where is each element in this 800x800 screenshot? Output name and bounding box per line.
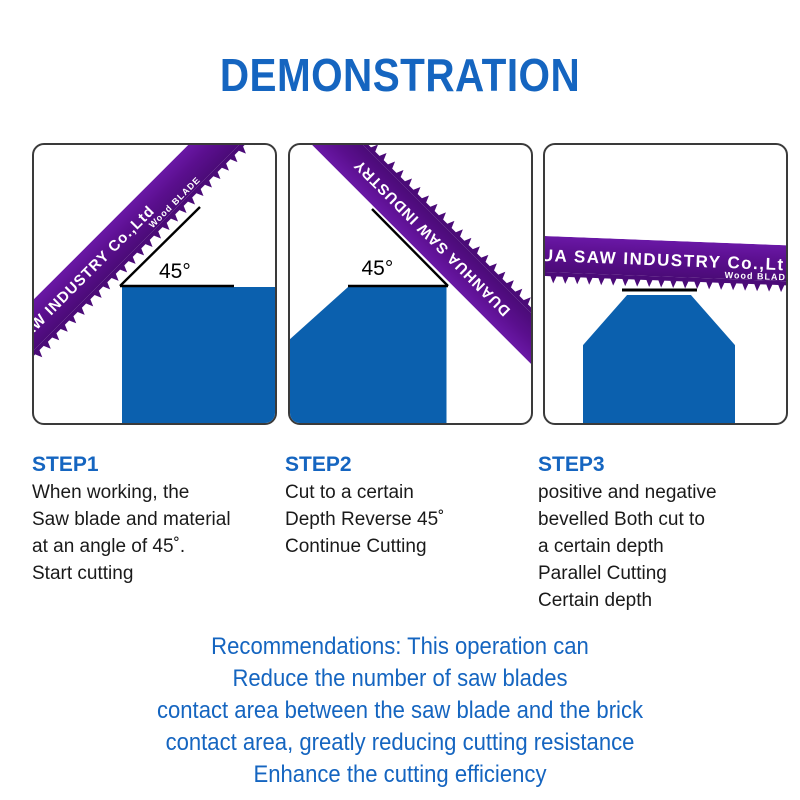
workpiece-block-step3	[583, 295, 735, 423]
step-body-1: When working, the Saw blade and material…	[32, 480, 282, 588]
panel-step3: NHUA SAW INDUSTRY Co.,Lt Wood BLAD	[543, 143, 788, 425]
panel-step1: SAW INDUSTRY Co.,Ltd Wood BLADE HCS 厚1.2…	[32, 143, 277, 425]
recommendation-line-5: Enhance the cutting efficiency	[32, 759, 768, 791]
workpiece-block-step1	[122, 287, 275, 423]
page-title: DEMONSTRATION	[48, 52, 752, 98]
recommendation-line-4: contact area, greatly reducing cutting r…	[32, 727, 768, 759]
panel-step2-canvas: DUANHUA SAW INDUSTRY Wood 45°	[290, 145, 531, 423]
panel-step2: DUANHUA SAW INDUSTRY Wood 45°	[288, 143, 533, 425]
recommendation-line-1: Recommendations: This operation can	[32, 631, 768, 663]
step-title-2: STEP2	[285, 452, 535, 478]
panel-step3-canvas: NHUA SAW INDUSTRY Co.,Lt Wood BLAD	[545, 145, 786, 423]
step-item-1: STEP1 When working, the Saw blade and ma…	[32, 452, 282, 615]
angle-label-step1: 45°	[159, 260, 191, 284]
step-body-2: Cut to a certain Depth Reverse 45˚ Conti…	[285, 480, 535, 561]
step-captions: STEP1 When working, the Saw blade and ma…	[32, 452, 788, 615]
step-item-3: STEP3 positive and negative bevelled Bot…	[538, 452, 788, 615]
saw-blade-step3: NHUA SAW INDUSTRY Co.,Lt Wood BLAD	[545, 235, 786, 296]
step-title-3: STEP3	[538, 452, 788, 478]
step-item-2: STEP2 Cut to a certain Depth Reverse 45˚…	[285, 452, 535, 615]
demonstration-panels: SAW INDUSTRY Co.,Ltd Wood BLADE HCS 厚1.2…	[32, 143, 788, 425]
step-title-1: STEP1	[32, 452, 282, 478]
angle-label-step2: 45°	[362, 257, 394, 281]
workpiece-block-step2	[290, 286, 447, 423]
recommendation-line-3: contact area between the saw blade and t…	[32, 695, 768, 727]
step-body-3: positive and negative bevelled Both cut …	[538, 480, 788, 615]
panel-step1-canvas: SAW INDUSTRY Co.,Ltd Wood BLADE HCS 厚1.2…	[34, 145, 275, 423]
recommendation-line-2: Reduce the number of saw blades	[32, 663, 768, 695]
recommendations-block: Recommendations: This operation can Redu…	[0, 631, 800, 791]
